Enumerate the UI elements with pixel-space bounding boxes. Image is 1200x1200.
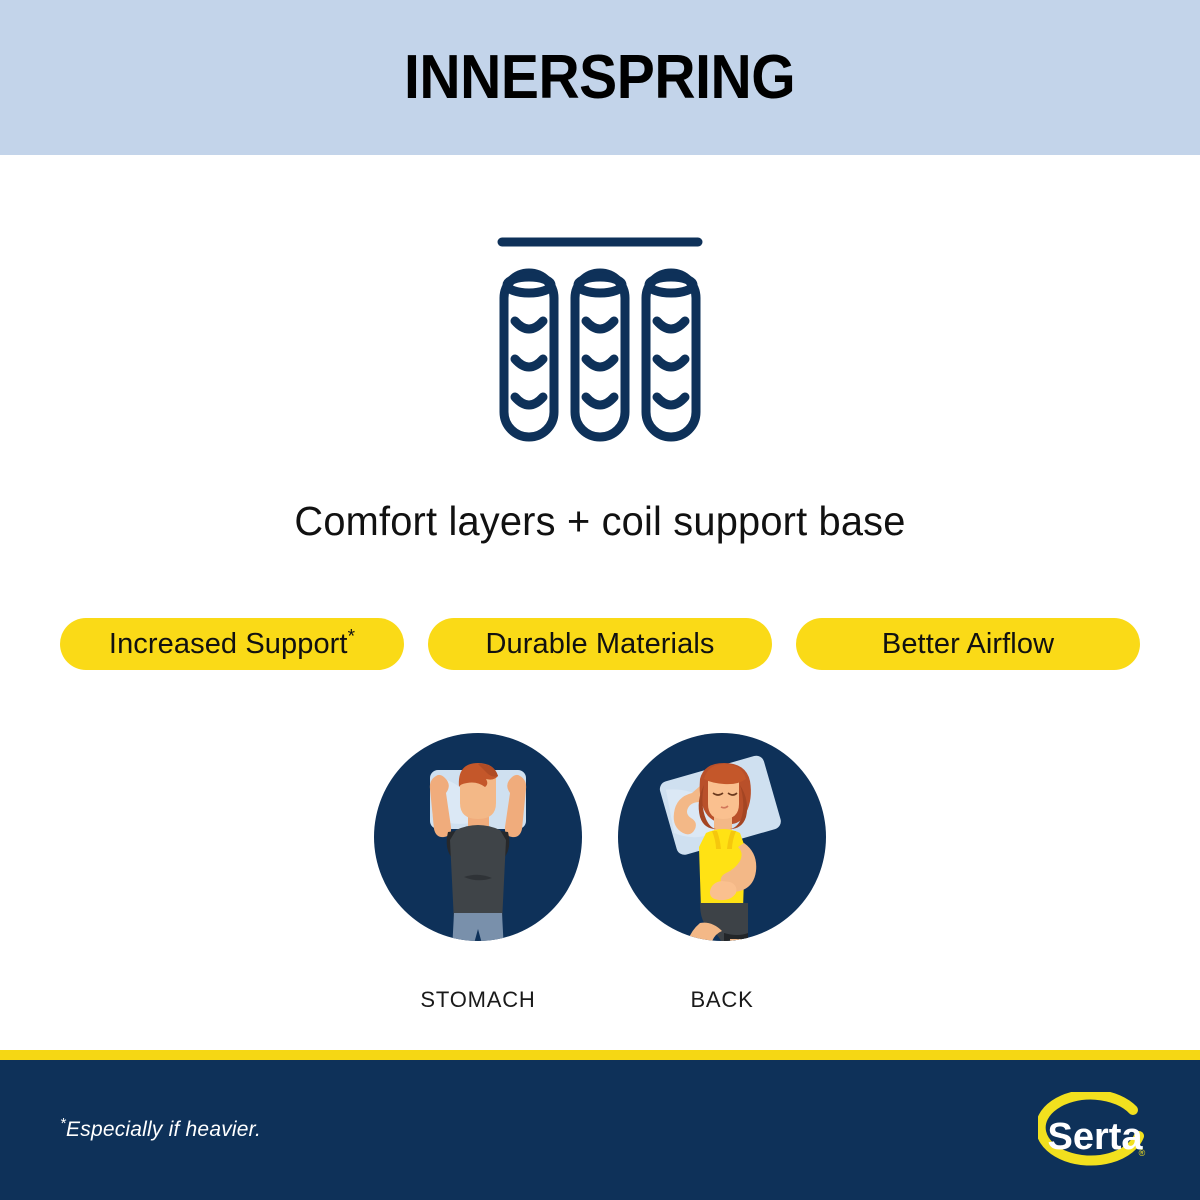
footnote-marker-icon: *: [348, 626, 356, 647]
position-label-stomach: STOMACH: [420, 987, 535, 1013]
sleep-position-row: STOMACH: [0, 733, 1200, 1013]
footnote: *Especially if heavier.: [60, 1118, 261, 1142]
footer-divider: [0, 1050, 1200, 1060]
feature-pill-durable-materials[interactable]: Durable Materials: [428, 618, 772, 670]
feature-pill-label: Increased Support*: [109, 628, 355, 661]
serta-wordmark: Serta: [1047, 1116, 1143, 1158]
position-circle: [618, 733, 826, 941]
coil-stack-icon: [490, 225, 710, 445]
feature-pill-label: Better Airflow: [882, 628, 1054, 661]
coil-icon-container: [0, 225, 1200, 445]
feature-pill-row: Increased Support* Durable Materials Bet…: [60, 618, 1140, 670]
position-circle: [374, 733, 582, 941]
footnote-text: Especially if heavier.: [66, 1118, 261, 1141]
feature-pill-text: Better Airflow: [882, 628, 1054, 660]
feature-pill-text: Increased Support: [109, 628, 348, 660]
back-sleeper-illustration: [618, 733, 826, 941]
sleep-position-stomach[interactable]: STOMACH: [374, 733, 582, 1013]
feature-pill-increased-support[interactable]: Increased Support*: [60, 618, 404, 670]
registered-trademark-icon: ®: [1139, 1148, 1146, 1158]
serta-logo[interactable]: Serta ®: [1038, 1092, 1158, 1178]
subtitle: Comfort layers + coil support base: [18, 498, 1182, 545]
stomach-sleeper-illustration: [374, 733, 582, 941]
position-label-back: BACK: [690, 987, 753, 1013]
feature-pill-better-airflow[interactable]: Better Airflow: [796, 618, 1140, 670]
sleep-position-back[interactable]: BACK: [618, 733, 826, 1013]
feature-pill-label: Durable Materials: [486, 628, 715, 661]
header-bar: INNERSPRING: [0, 0, 1200, 155]
feature-pill-text: Durable Materials: [486, 628, 715, 660]
page-title: INNERSPRING: [404, 47, 795, 109]
